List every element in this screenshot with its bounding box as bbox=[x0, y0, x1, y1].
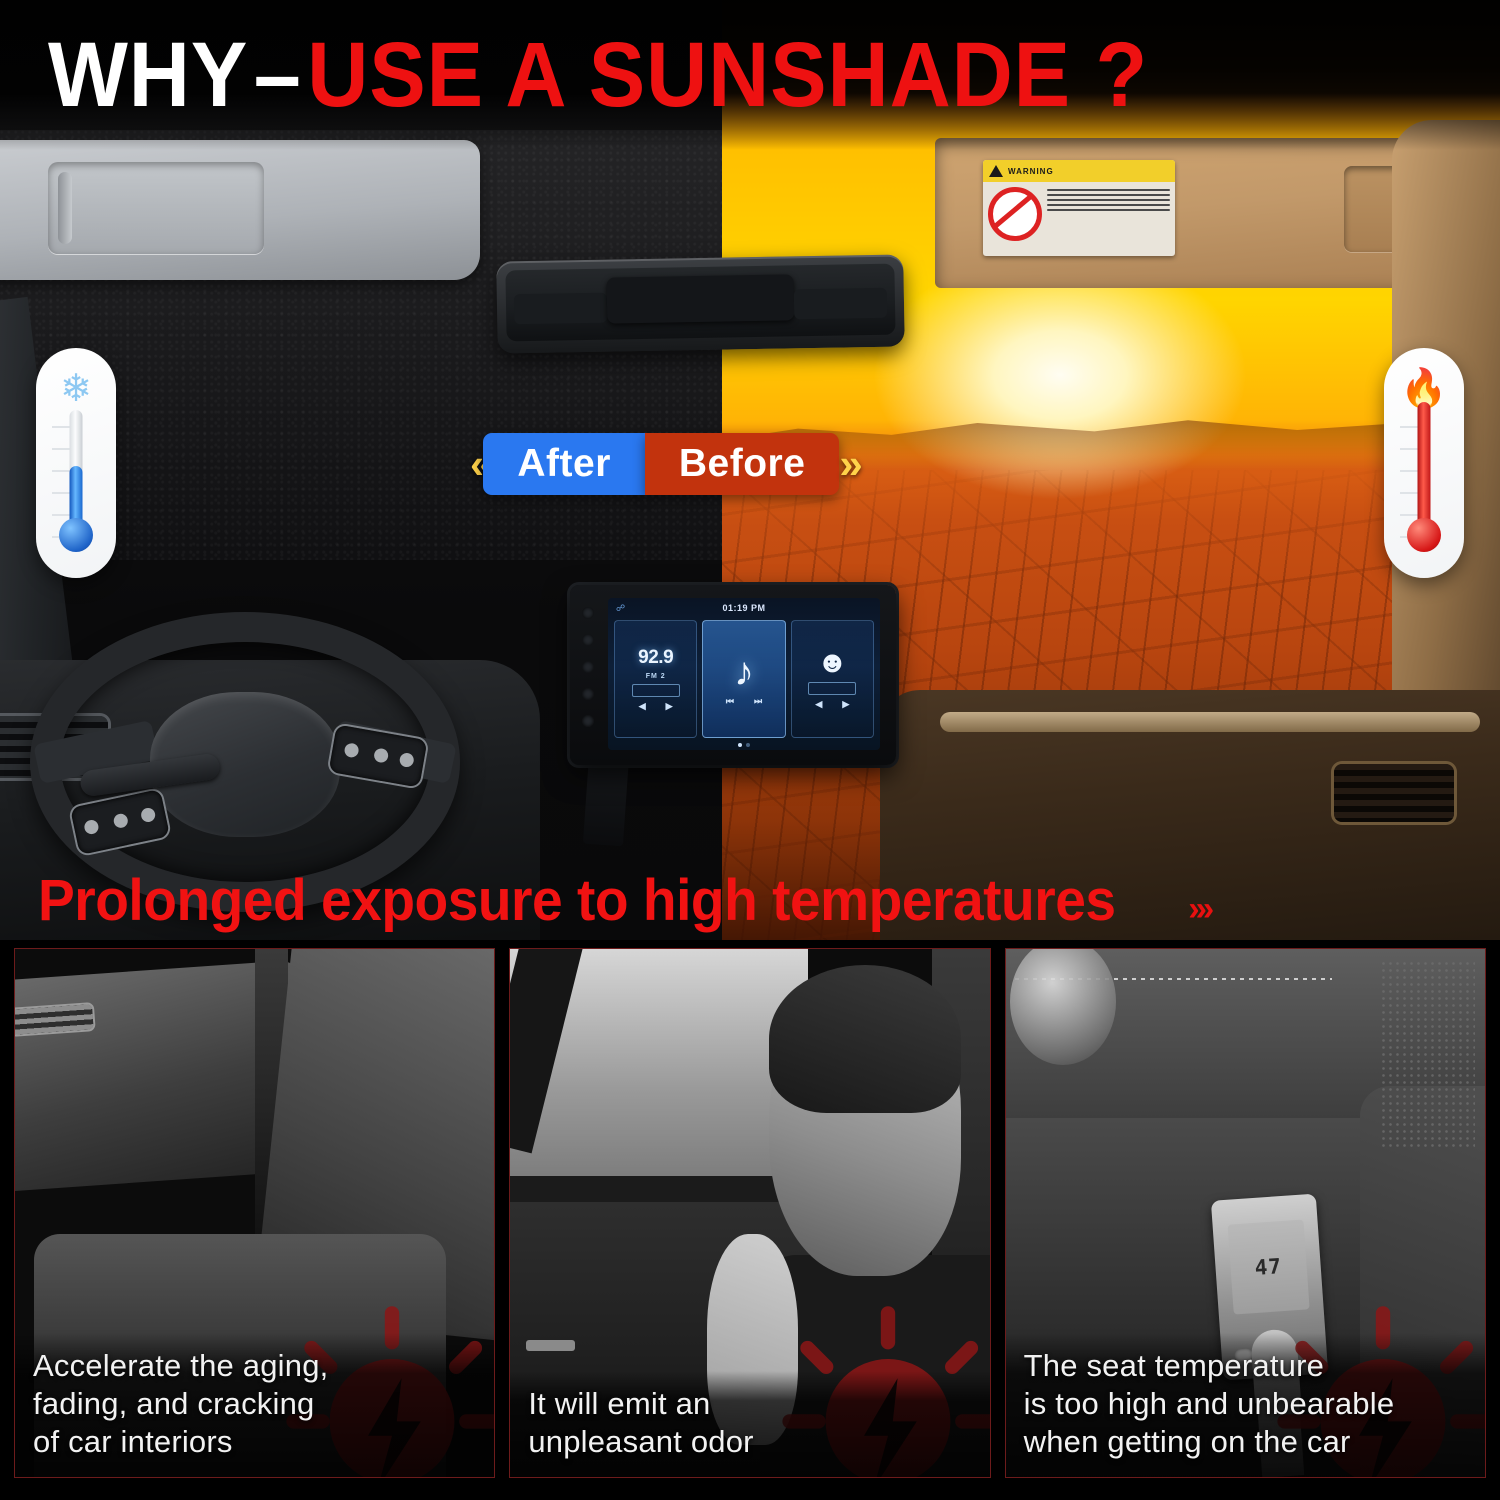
rear-headrest-reflection bbox=[607, 274, 795, 324]
product-infographic: WARNING bbox=[0, 0, 1500, 1500]
phone-tile[interactable]: ☻ ◀ ▶ bbox=[791, 620, 874, 738]
panel-seat-temperature: 47 The bbox=[1005, 948, 1486, 1478]
before-after-hero: WARNING bbox=[0, 0, 1500, 940]
rear-seat-left-reflection bbox=[514, 293, 608, 324]
ir-thermometer-reading: 47 bbox=[1253, 1254, 1282, 1280]
radio-tuning-arrows[interactable]: ◀ ▶ bbox=[639, 701, 673, 712]
media-rewind-icon[interactable]: ⏮ bbox=[726, 696, 734, 707]
visor-pocket-left bbox=[48, 162, 264, 254]
caption-line: Accelerate the aging, bbox=[33, 1347, 476, 1385]
photo-door-handle bbox=[526, 1340, 575, 1351]
before-badge[interactable]: Before bbox=[645, 433, 840, 495]
panel-unpleasant-odor: It will emit an unpleasant odor bbox=[509, 948, 990, 1478]
warning-label-heading: WARNING bbox=[1008, 167, 1054, 176]
radio-preset-pill[interactable] bbox=[632, 684, 680, 697]
radio-tile[interactable]: 92.9 FM 2 ◀ ▶ bbox=[614, 620, 697, 738]
head-unit-clock: 01:19 PM bbox=[722, 603, 765, 613]
before-after-badge-group: « After Before » bbox=[470, 433, 857, 495]
caption-line: of car interiors bbox=[33, 1423, 476, 1461]
warning-triangle-icon bbox=[989, 165, 1003, 177]
chevron-right-icon: » bbox=[839, 443, 856, 485]
airbag-warning-label: WARNING bbox=[983, 160, 1175, 256]
rear-seat-right-reflection bbox=[794, 288, 888, 319]
panel-caption-seat-temperature: The seat temperature is too high and unb… bbox=[1006, 1333, 1485, 1477]
headline-text: Prolonged exposure to high temperatures bbox=[38, 872, 1116, 930]
media-forward-icon[interactable]: ⏭ bbox=[754, 696, 762, 707]
caption-line: unpleasant odor bbox=[528, 1423, 971, 1461]
phone-arrows[interactable]: ◀ ▶ bbox=[815, 699, 849, 710]
rearview-mirror-glass bbox=[505, 264, 895, 342]
caption-line: fading, and cracking bbox=[33, 1385, 476, 1423]
panel-caption-interior-aging: Accelerate the aging, fading, and cracki… bbox=[15, 1333, 494, 1477]
snowflake-icon: ❄ bbox=[60, 370, 92, 408]
hot-thermometer: 🔥 bbox=[1384, 348, 1464, 578]
title-bar: WHY–USE A SUNSHADE ? bbox=[0, 0, 1500, 150]
after-badge[interactable]: After bbox=[483, 433, 645, 495]
caption-line: It will emit an bbox=[528, 1385, 971, 1423]
page-title: WHY–USE A SUNSHADE ? bbox=[48, 29, 1148, 121]
music-note-icon: ♪ bbox=[734, 652, 754, 692]
contact-person-icon: ☻ bbox=[817, 648, 849, 678]
caption-line: The seat temperature bbox=[1024, 1347, 1467, 1385]
ir-thermometer-display: 47 bbox=[1227, 1220, 1309, 1315]
air-vent-right bbox=[1334, 764, 1454, 822]
thermometer-mercury-hot bbox=[1418, 402, 1431, 526]
head-unit-tiles[interactable]: 92.9 FM 2 ◀ ▶ ♪ ⏮ ⏭ bbox=[614, 620, 874, 738]
caption-line: is too high and unbearable bbox=[1024, 1385, 1467, 1423]
phone-prev-icon[interactable]: ◀ bbox=[815, 699, 822, 710]
photo-air-vent bbox=[14, 1004, 94, 1035]
head-unit-mount bbox=[583, 754, 629, 847]
thermometer-mercury-cold bbox=[70, 466, 83, 526]
photo-perforated-leather bbox=[1380, 960, 1476, 1150]
photo-man-hair bbox=[769, 965, 961, 1113]
radio-next-icon[interactable]: ▶ bbox=[666, 701, 673, 712]
title-word-why: WHY bbox=[48, 24, 248, 126]
title-phrase-red: USE A SUNSHADE ? bbox=[307, 24, 1148, 126]
page-indicator-dots bbox=[738, 743, 750, 747]
infotainment-head-unit[interactable]: ☍ 01:19 PM 92.9 FM 2 ◀ ▶ ♪ bbox=[570, 585, 896, 765]
headline-chevrons-icon: ››› bbox=[1188, 890, 1210, 929]
rearview-mirror bbox=[496, 254, 905, 353]
consequence-panels: Accelerate the aging, fading, and cracki… bbox=[0, 940, 1500, 1500]
headline-banner: Prolonged exposure to high temperatures … bbox=[38, 872, 1210, 930]
steering-wheel bbox=[30, 612, 460, 912]
phone-name-pill[interactable] bbox=[808, 682, 856, 695]
head-unit-side-keys[interactable] bbox=[582, 607, 594, 727]
sun-visor-left-cool bbox=[0, 140, 480, 280]
media-transport-controls[interactable]: ⏮ ⏭ bbox=[726, 696, 762, 707]
no-rear-facing-child-seat-icon bbox=[988, 187, 1042, 241]
panel-caption-unpleasant-odor: It will emit an unpleasant odor bbox=[510, 1371, 989, 1477]
thermometer-bulb-cold bbox=[59, 518, 93, 552]
cold-thermometer: ❄ bbox=[36, 348, 116, 578]
head-unit-screen[interactable]: ☍ 01:19 PM 92.9 FM 2 ◀ ▶ ♪ bbox=[608, 598, 880, 750]
thermometer-bulb-hot bbox=[1407, 518, 1441, 552]
caption-line: when getting on the car bbox=[1024, 1423, 1467, 1461]
media-tile[interactable]: ♪ ⏮ ⏭ bbox=[702, 620, 785, 738]
radio-frequency: 92.9 bbox=[638, 647, 673, 669]
warning-label-text-lines bbox=[1047, 187, 1170, 241]
phone-next-icon[interactable]: ▶ bbox=[842, 699, 849, 710]
radio-prev-icon[interactable]: ◀ bbox=[639, 701, 646, 712]
panel-interior-aging: Accelerate the aging, fading, and cracki… bbox=[14, 948, 495, 1478]
head-unit-status-bar: ☍ 01:19 PM bbox=[608, 598, 880, 617]
bluetooth-icon: ☍ bbox=[616, 603, 625, 614]
title-dash: – bbox=[248, 24, 307, 126]
radio-band: FM 2 bbox=[646, 673, 666, 680]
